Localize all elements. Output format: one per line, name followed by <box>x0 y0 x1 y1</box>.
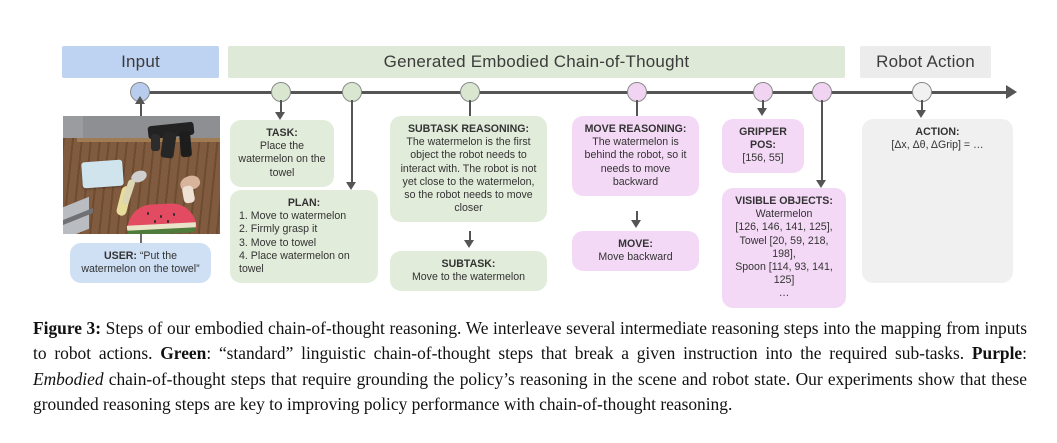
task-text: Place the watermelon on the towel <box>238 140 325 178</box>
plan-step: 1. Move to watermelon <box>239 210 369 223</box>
action-formula: [Δx, Δθ, ΔGrip] = … <box>891 139 983 151</box>
figure-3-container: Input Generated Embodied Chain-of-Though… <box>0 0 1057 443</box>
connector-plan-line <box>351 100 353 184</box>
plan-label: PLAN: <box>239 197 369 210</box>
caption-part-4: chain-of-thought steps that require grou… <box>33 369 1027 414</box>
subtask-text: Move to the watermelon <box>412 271 525 283</box>
move-reasoning-text: The watermelon is behind the robot, so i… <box>585 136 687 188</box>
connector-move-reasoning-line <box>636 100 638 116</box>
gripper-pos-box: GRIPPER POS: [156, 55] <box>722 119 804 173</box>
node-gripper-pos <box>753 82 773 102</box>
gripper-pos-label-line2: POS: <box>730 139 796 152</box>
subtask-reasoning-box: SUBTASK REASONING: The watermelon is the… <box>390 116 547 222</box>
user-text: “Put the watermelon on the towel” <box>81 250 199 275</box>
subtask-label: SUBTASK: <box>398 258 539 271</box>
subtask-reasoning-label: SUBTASK REASONING: <box>398 123 539 136</box>
caption-figure-label: Figure 3: <box>33 318 101 338</box>
connector-input-arrowhead-icon <box>135 96 145 104</box>
connector-visible-objects-line <box>821 100 823 182</box>
caption-part-2: : “standard” linguistic chain-of-thought… <box>206 343 972 363</box>
visible-objects-box: VISIBLE OBJECTS: Watermelon [126, 146, 1… <box>722 188 846 308</box>
visible-object-line: Spoon [114, 93, 141, 125] <box>730 261 838 287</box>
header-input: Input <box>62 46 219 78</box>
header-robot-action: Robot Action <box>860 46 991 78</box>
connector-visible-objects-arrowhead-icon <box>816 180 826 188</box>
header-robot-action-label: Robot Action <box>876 52 975 72</box>
visible-objects-ellipsis: … <box>730 287 838 300</box>
action-label: ACTION: <box>870 126 1005 139</box>
move-box: MOVE: Move backward <box>572 231 699 271</box>
task-box: TASK: Place the watermelon on the towel <box>230 120 334 187</box>
header-generated-embodied-chain-of-thought: Generated Embodied Chain-of-Thought <box>228 46 845 78</box>
header-ecot-label: Generated Embodied Chain-of-Thought <box>384 52 690 72</box>
subtask-box: SUBTASK: Move to the watermelon <box>390 251 547 291</box>
visible-object-line: Towel [20, 59, 218, 198], <box>730 235 838 261</box>
gripper-pos-value: [156, 55] <box>742 152 783 164</box>
node-action <box>912 82 932 102</box>
plan-box: PLAN: 1. Move to watermelon 2. Firmly gr… <box>230 190 378 283</box>
caption-green-label: Green <box>160 343 206 363</box>
connector-action-arrowhead-icon <box>916 110 926 118</box>
timeline-axis <box>133 91 1013 94</box>
subtask-reasoning-text: The watermelon is the first object the r… <box>401 136 537 214</box>
user-instruction-box: USER: “Put the watermelon on the towel” <box>70 243 211 283</box>
gripper-pos-label-line1: GRIPPER <box>730 126 796 139</box>
move-label: MOVE: <box>580 238 691 251</box>
connector-move-arrowhead-icon <box>631 220 641 228</box>
visible-objects-label: VISIBLE OBJECTS: <box>730 195 838 208</box>
move-reasoning-box: MOVE REASONING: The watermelon is behind… <box>572 116 699 196</box>
node-task <box>271 82 291 102</box>
caption-purple-label: Purple <box>972 343 1022 363</box>
move-text: Move backward <box>598 251 672 263</box>
timeline-arrowhead-icon <box>1006 85 1017 99</box>
connector-subtask-reasoning-line <box>469 100 471 116</box>
caption-part-3: : <box>1022 343 1027 363</box>
connector-subtask-arrowhead-icon <box>464 240 474 248</box>
connector-input-photo <box>140 102 142 116</box>
visible-object-line: [126, 146, 141, 125], <box>730 221 838 234</box>
node-move-reasoning <box>627 82 647 102</box>
move-reasoning-label: MOVE REASONING: <box>580 123 691 136</box>
task-label: TASK: <box>238 127 326 140</box>
node-visible-objects <box>812 82 832 102</box>
connector-gripper-pos-arrowhead-icon <box>757 108 767 116</box>
plan-step: 4. Place watermelon on towel <box>239 250 369 276</box>
node-subtask <box>460 82 480 102</box>
node-plan <box>342 82 362 102</box>
input-scene-photo <box>63 116 220 234</box>
figure-caption: Figure 3: Steps of our embodied chain-of… <box>33 316 1027 418</box>
header-input-label: Input <box>121 52 160 72</box>
user-label: USER: <box>104 250 137 262</box>
caption-embodied-italic: Embodied <box>33 369 104 389</box>
plan-step: 3. Move to towel <box>239 237 369 250</box>
connector-plan-arrowhead-icon <box>346 182 356 190</box>
connector-task-arrowhead-icon <box>275 112 285 120</box>
visible-object-line: Watermelon <box>730 208 838 221</box>
plan-step: 2. Firmly grasp it <box>239 223 369 236</box>
action-box: ACTION: [Δx, Δθ, ΔGrip] = … <box>862 119 1013 283</box>
